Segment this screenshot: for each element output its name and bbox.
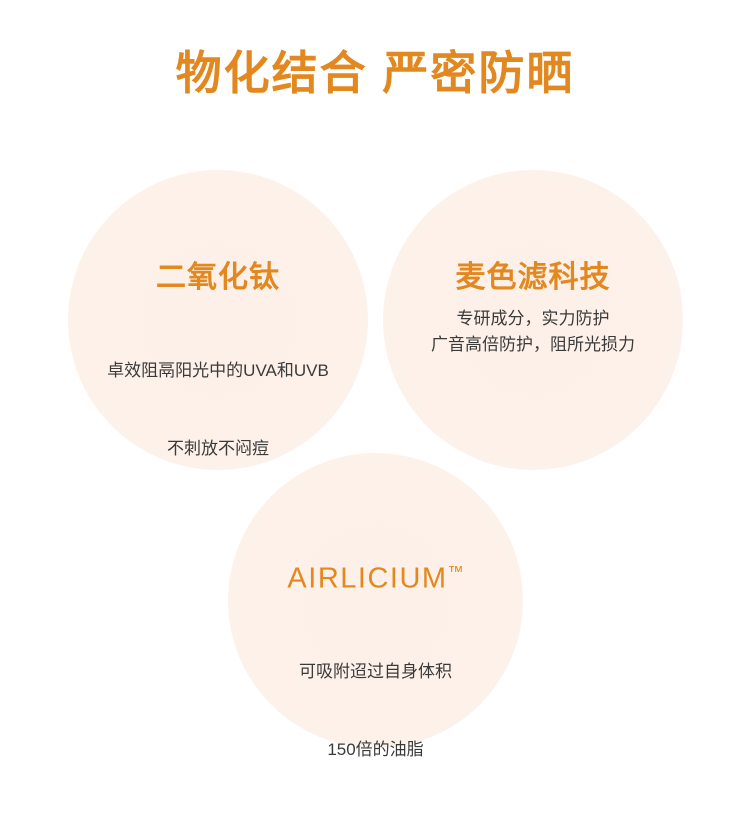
sunscreen-feature-infographic: 物化结合 严密防晒 二氧化钛 卓效阻鬲阳光中的UVA和UVB 不刺放不闷痘 麦色…	[0, 0, 750, 817]
feature-block-mexoryl: 麦色滤科技 专研成分，实力防护 广音高倍防护，阻所光损力	[388, 258, 678, 358]
feature-body-line: 专研成分，实力防护	[388, 306, 678, 332]
feature-heading-airlicium: AIRLICIUM™	[228, 553, 523, 599]
page-title: 物化结合 严密防晒	[0, 44, 750, 102]
feature-heading-mexoryl: 麦色滤科技	[388, 258, 678, 298]
feature-body-airlicium: 可吸附迢过自身体积 150倍的油脂	[228, 607, 523, 815]
feature-body-titanium-dioxide: 卓效阻鬲阳光中的UVA和UVB 不刺放不闷痘	[38, 306, 398, 514]
feature-heading-titanium-dioxide: 二氧化钛	[38, 258, 398, 298]
feature-body-line: 不刺放不闷痘	[38, 436, 398, 462]
trademark-symbol: ™	[448, 564, 464, 581]
feature-body-line: 广音高倍防护，阻所光损力	[388, 332, 678, 358]
feature-body-line: 可吸附迢过自身体积	[228, 659, 523, 685]
feature-heading-airlicium-text: AIRLICIUM	[287, 563, 447, 595]
feature-block-titanium-dioxide: 二氧化钛 卓效阻鬲阳光中的UVA和UVB 不刺放不闷痘	[38, 258, 398, 514]
feature-body-line: 150倍的油脂	[228, 737, 523, 763]
feature-block-airlicium: AIRLICIUM™ 可吸附迢过自身体积 150倍的油脂	[228, 553, 523, 815]
feature-body-line: 卓效阻鬲阳光中的UVA和UVB	[38, 358, 398, 384]
feature-body-mexoryl: 专研成分，实力防护 广音高倍防护，阻所光损力	[388, 306, 678, 358]
